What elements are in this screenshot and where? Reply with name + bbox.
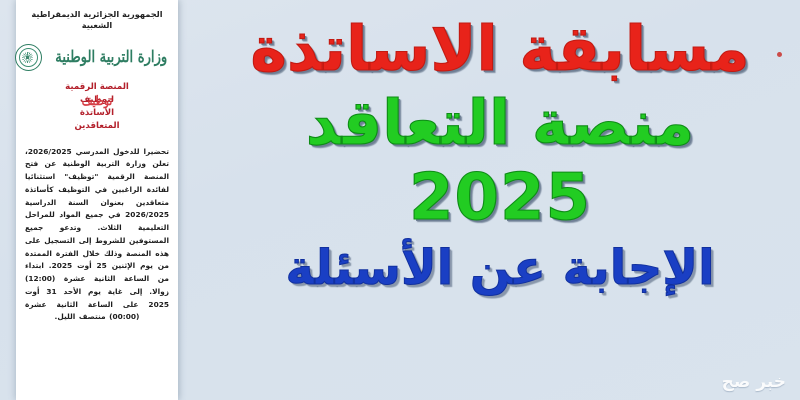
headline-year: 2025 [409, 166, 591, 230]
platform-line-3: الأساتذة [25, 107, 169, 120]
platform-line-2: لتوظيف [25, 94, 169, 107]
algeria-ministry-emblem-icon [15, 44, 42, 71]
republic-header: الجمهورية الجزائرية الديمقراطية الشعبية [25, 9, 169, 31]
headline-line-1: مسابقة الاساتذة [250, 18, 749, 80]
poster-canvas: الجمهورية الجزائرية الديمقراطية الشعبية … [0, 0, 800, 400]
platform-line-4: المتعاقدين [25, 120, 169, 133]
headline-line-4: الإجابة عن الأسئلة [285, 244, 714, 292]
headline-line-2: منصة التعاقد [306, 92, 695, 154]
announcement-body-text: تحضيرا للدخول المدرسي 2026/2025، تعلن وز… [25, 146, 169, 324]
ministry-logo-text: وزارة التربية الوطنية [55, 49, 167, 65]
platform-title-block: المنصة الرقمية لتوظيف الأساتذة المتعاقدي… [25, 81, 169, 133]
platform-line-1: المنصة الرقمية [25, 81, 169, 94]
headline-stack: مسابقة الاساتذة منصة التعاقد 2025 الإجاب… [200, 0, 800, 400]
source-watermark: خبر صح [722, 372, 786, 392]
announcement-document-card: الجمهورية الجزائرية الديمقراطية الشعبية … [16, 0, 178, 400]
ministry-logo: وزارة التربية الوطنية [25, 42, 169, 72]
decorative-dot-icon [777, 52, 782, 57]
